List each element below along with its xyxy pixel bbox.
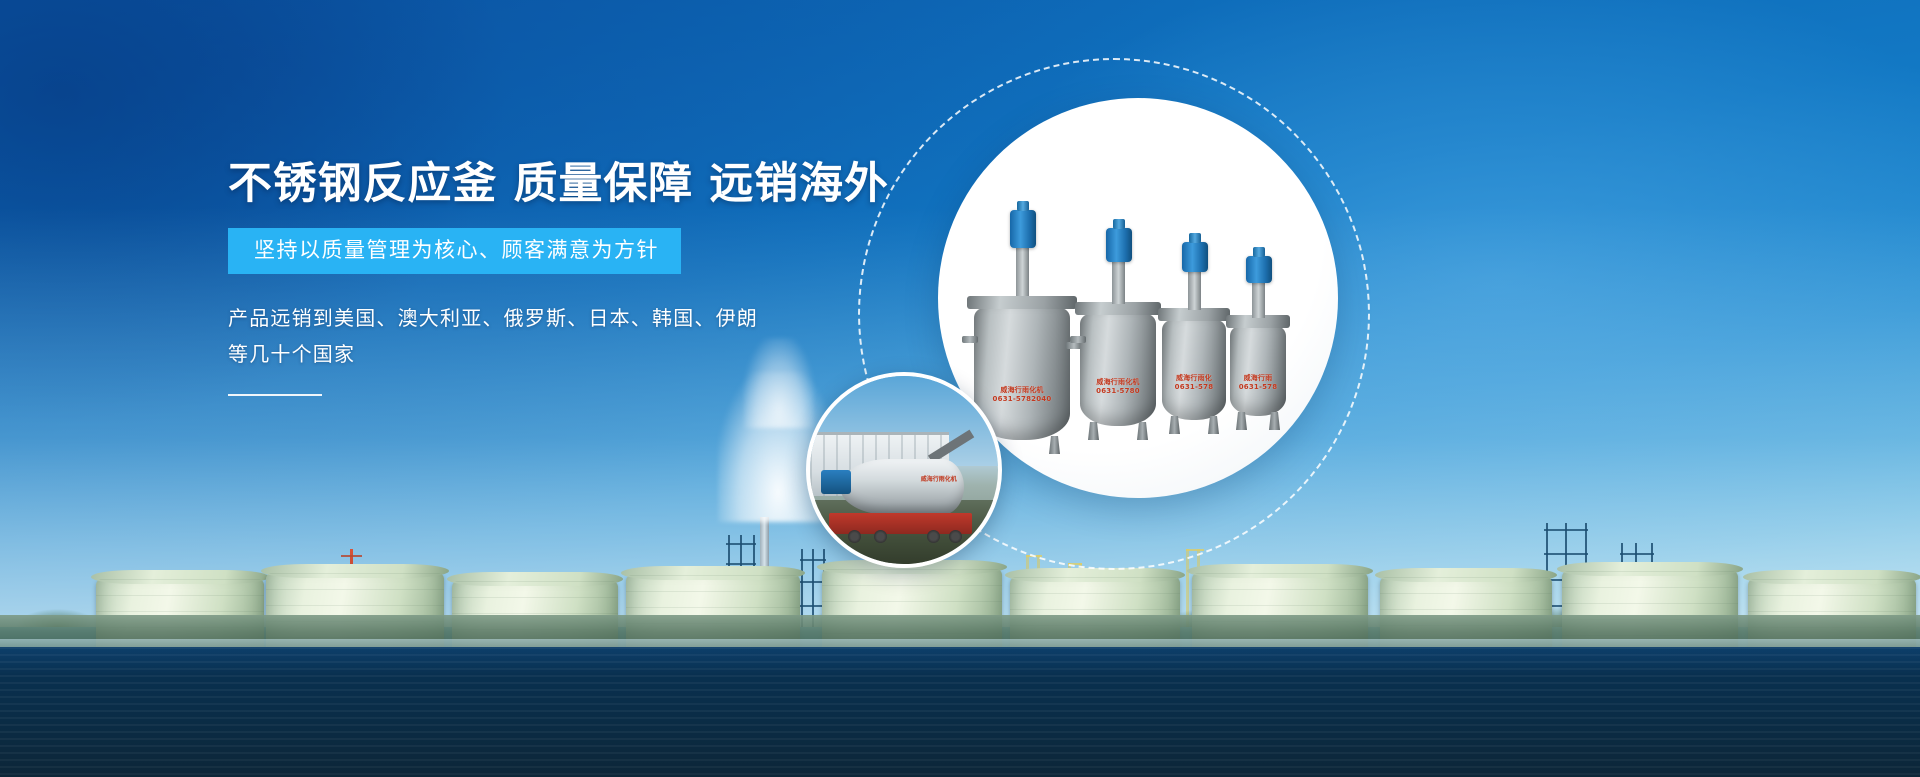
reactor-label-line2: 0631-578 [1168, 383, 1219, 392]
reactor-label-line2: 0631-578 [1236, 383, 1281, 392]
description-line: 等几十个国家 [228, 336, 948, 372]
water-foreground [0, 647, 1920, 777]
inset-photo-circle: 威海行雨化机 [806, 372, 1002, 568]
inset-vessel-label: 威海行雨化机 [921, 476, 957, 483]
reactor-label: 威海行雨化 0631-578 [1168, 374, 1219, 392]
hero-banner: 威海行雨化机 0631-5782040 威海行雨化机 0631-5780 [0, 0, 1920, 777]
description-line: 产品远销到美国、澳大利亚、俄罗斯、日本、韩国、伊朗 [228, 300, 948, 336]
headline: 不锈钢反应釜 质量保障 远销海外 [228, 160, 962, 208]
inset-truck-wheel [848, 530, 861, 543]
reactor-label: 威海行雨化机 0631-5780 [1088, 378, 1149, 396]
subtitle-bar: 坚持以质量管理为核心、顾客满意为方针 [228, 228, 681, 274]
description-paragraph: 产品远销到美国、澳大利亚、俄罗斯、日本、韩国、伊朗 等几十个国家 [228, 300, 948, 372]
reactor-label-line1: 威海行雨 [1236, 374, 1281, 383]
reactor-label-line1: 威海行雨化机 [1088, 378, 1149, 387]
reactor-vessel: 威海行雨化机 0631-5780 [1080, 298, 1156, 426]
reactor-label-line2: 0631-5780 [1088, 387, 1149, 396]
inset-vessel: 威海行雨化机 [840, 459, 964, 515]
inset-blue-motor [821, 470, 851, 494]
reactor-vessel: 威海行雨 0631-578 [1230, 312, 1286, 416]
banner-copy: 不锈钢反应釜 质量保障 远销海外 坚持以质量管理为核心、顾客满意为方针 产品远销… [228, 160, 948, 396]
reactor-label-line1: 威海行雨化 [1168, 374, 1219, 383]
reactor-vessel: 威海行雨化 0631-578 [1162, 304, 1226, 420]
reactor-label: 威海行雨 0631-578 [1236, 374, 1281, 392]
inset-truck-wheel [927, 530, 940, 543]
horizontal-rule-icon [228, 394, 322, 396]
product-photo-circle: 威海行雨化机 0631-5782040 威海行雨化机 0631-5780 [938, 98, 1338, 498]
